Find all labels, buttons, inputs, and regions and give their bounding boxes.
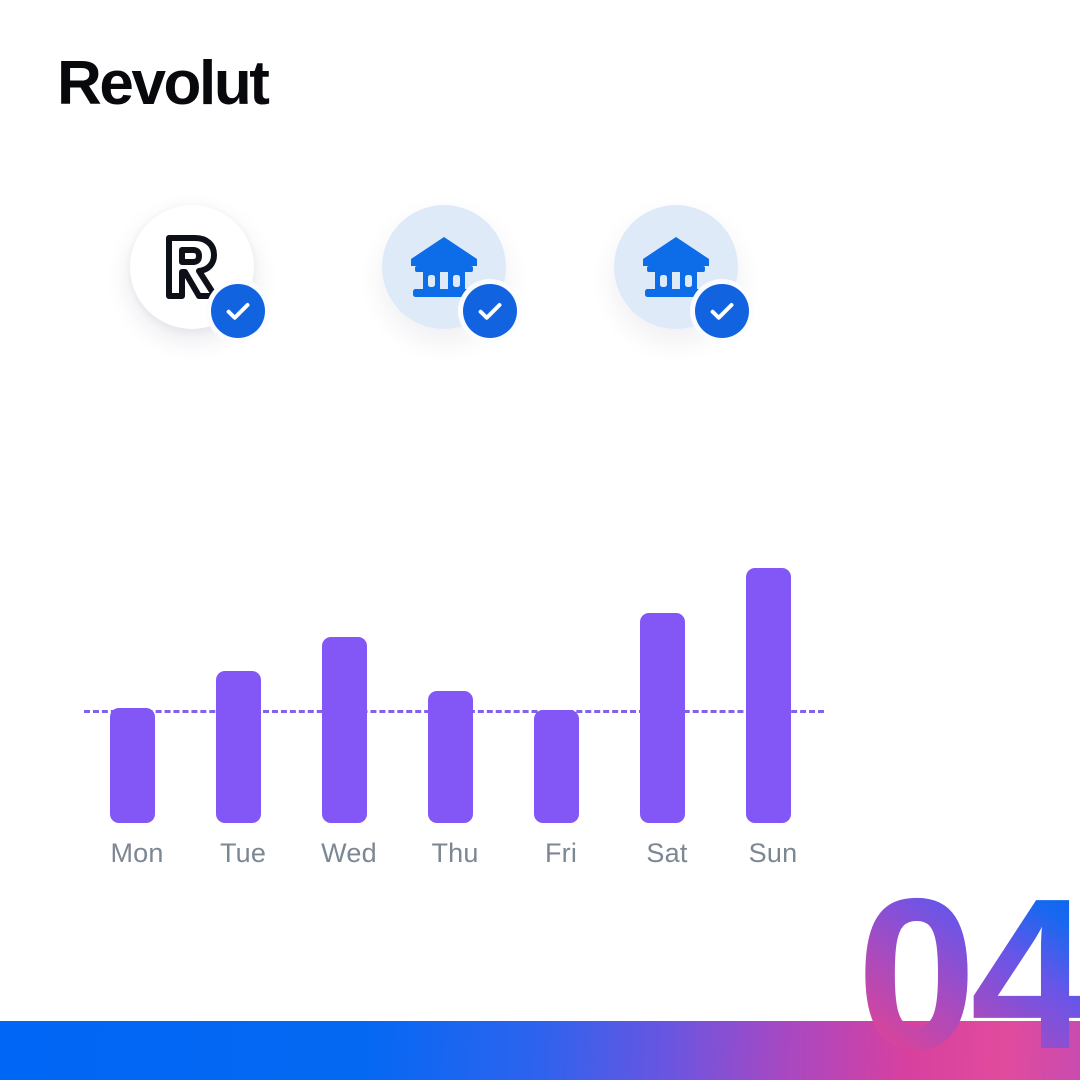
chart-bar[interactable]	[746, 568, 791, 823]
chart-x-axis: MonTueWedThuFriSatSun	[84, 838, 824, 878]
account-tile-revolut[interactable]	[130, 205, 254, 329]
verified-badge	[206, 279, 270, 343]
account-tile-bank-2[interactable]	[614, 205, 738, 329]
x-axis-tick-label: Mon	[84, 838, 190, 869]
verified-badge	[458, 279, 522, 343]
x-axis-tick-label: Fri	[508, 838, 614, 869]
weekly-activity-bar-chart: MonTueWedThuFriSatSun	[84, 548, 824, 883]
bar-slot	[296, 548, 402, 823]
verified-check-icon	[223, 296, 253, 326]
bar-slot	[508, 548, 614, 823]
x-axis-tick-label: Thu	[402, 838, 508, 869]
revolut-wordmark: Revolut	[57, 54, 317, 118]
verified-badge-circle	[211, 284, 265, 338]
x-axis-tick-label: Sun	[720, 838, 826, 869]
chart-bar[interactable]	[428, 691, 473, 823]
x-axis-tick-label: Tue	[190, 838, 296, 869]
verified-check-icon	[707, 296, 737, 326]
x-axis-tick-label: Sat	[614, 838, 720, 869]
x-axis-tick-label: Wed	[296, 838, 402, 869]
bar-slot	[190, 548, 296, 823]
step-number: 04	[857, 890, 1080, 1058]
bar-slot	[614, 548, 720, 823]
bar-slot	[84, 548, 190, 823]
chart-bar[interactable]	[640, 613, 685, 823]
chart-plot-area	[84, 548, 824, 823]
bar-slot	[402, 548, 508, 823]
verified-badge-circle	[463, 284, 517, 338]
chart-bar[interactable]	[216, 671, 261, 823]
verified-badge-circle	[695, 284, 749, 338]
account-tile-bank-1[interactable]	[382, 205, 506, 329]
chart-bar[interactable]	[534, 710, 579, 823]
brand-name-text: Revolut	[57, 54, 269, 118]
bar-slot	[720, 548, 826, 823]
chart-bar[interactable]	[110, 708, 155, 823]
chart-bar[interactable]	[322, 637, 367, 823]
chart-bars	[84, 548, 824, 823]
verified-badge	[690, 279, 754, 343]
promo-card: Revolut	[0, 0, 1080, 1080]
verified-check-icon	[475, 296, 505, 326]
connected-accounts-row	[130, 205, 790, 395]
